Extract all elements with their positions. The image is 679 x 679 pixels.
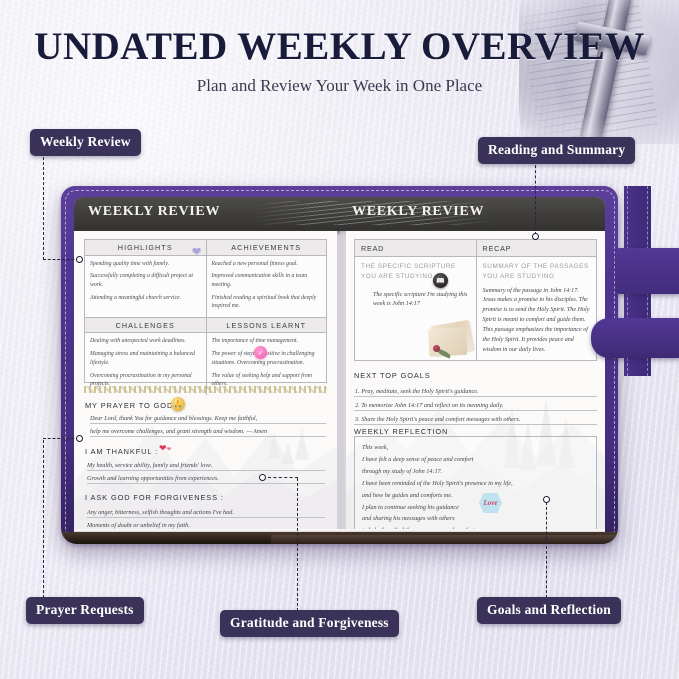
page-title: UNDATED WEEKLY OVERVIEW bbox=[0, 24, 679, 69]
callout-reading-and-summary[interactable]: Reading and Summary bbox=[478, 137, 635, 164]
prayer-heading: MY PRAYER TO GOD: bbox=[85, 401, 176, 410]
leader-gratitude-h bbox=[268, 477, 298, 478]
recap-cell[interactable]: SUMMARY OF THE PASSAGES YOU ARE STUDYING… bbox=[476, 257, 597, 361]
leader-goals-and-reflection bbox=[546, 502, 547, 598]
quadrant-cell-highlights[interactable]: Spending quality time with family. Succe… bbox=[85, 256, 206, 317]
reflection-line-3: through my study of John 14:17. bbox=[362, 466, 594, 478]
lessons-entry-1: The importance of time management. bbox=[212, 337, 322, 345]
thankful-heading: I AM THANKFUL : bbox=[85, 447, 158, 456]
achievements-entry-3: Finished reading a spiritual book that d… bbox=[212, 294, 322, 311]
goal-item-3: 3. Share the Holy Spirit's peace and com… bbox=[355, 415, 599, 424]
read-entry: The specific scripture I'm studying this… bbox=[373, 291, 470, 311]
callout-gratitude-and-forgiveness[interactable]: Gratitude and Forgiveness bbox=[220, 610, 399, 637]
read-prompt-line-1: THE SPECIFIC SCRIPTURE bbox=[361, 262, 470, 272]
reflection-line-7: and sharing his messages with others bbox=[362, 513, 594, 525]
reflection-line-2: I have felt a deep sense of peace and co… bbox=[362, 454, 594, 466]
challenges-entry-2: Managing stress and maintaining a balanc… bbox=[90, 350, 201, 367]
forgiveness-heading: I ASK GOD FOR FORGIVENESS : bbox=[85, 493, 224, 502]
highlights-entry-3: Attending a meaningful church service. bbox=[90, 294, 201, 302]
recap-heading: RECAP bbox=[476, 240, 597, 257]
leader-prayer-requests-h bbox=[43, 438, 79, 439]
journal-elastic-band bbox=[271, 535, 618, 544]
reflection-line-5: and how he guides and comforts me. bbox=[362, 490, 594, 502]
read-cell[interactable]: THE SPECIFIC SCRIPTURE YOU ARE STUDYING … bbox=[355, 257, 476, 361]
achievements-entry-1: Reached a new personal fitness goal. bbox=[212, 260, 322, 268]
leader-prayer-requests bbox=[43, 440, 44, 598]
leader-dot-goals-and-reflection bbox=[543, 496, 550, 503]
highlights-entry-1: Spending quality time with family. bbox=[90, 260, 201, 268]
quadrant-heading-lessons-learnt: LESSONS LEARNT bbox=[206, 317, 327, 334]
highlights-entry-2: Successfully completing a difficult proj… bbox=[90, 272, 201, 289]
prayer-line-2: help me overcome challenges, and grant s… bbox=[90, 427, 328, 436]
callout-weekly-review[interactable]: Weekly Review bbox=[30, 129, 141, 156]
journal-pages: WEEKLY REVIEW WEEKLY REVIEW HIGHLIGHTS A bbox=[74, 197, 605, 537]
review-quadrant-table: HIGHLIGHTS ACHIEVEMENTS Spending quality… bbox=[84, 239, 327, 383]
quadrant-cell-achievements[interactable]: Reached a new personal fitness goal. Imp… bbox=[206, 256, 327, 317]
read-heading: READ bbox=[355, 240, 476, 257]
leader-weekly-review-h bbox=[43, 259, 79, 260]
achievements-entry-2: Improved communication skills in a team … bbox=[212, 272, 322, 289]
quadrant-heading-highlights: HIGHLIGHTS bbox=[85, 240, 206, 256]
leader-dot-prayer-requests bbox=[76, 435, 83, 442]
weekly-reflection-heading: WEEKLY REFLECTION bbox=[354, 427, 448, 436]
goal-item-1: 1. Pray, meditate, seek the Holy Spirit'… bbox=[355, 387, 599, 396]
pink-check-icon: ✓ bbox=[254, 346, 267, 359]
leader-reading-and-summary bbox=[535, 160, 536, 235]
leader-dot-weekly-review bbox=[76, 256, 83, 263]
reflection-line-4: I have been reminded of the Holy Spirit'… bbox=[362, 478, 594, 490]
praying-hands-icon: 🙏 bbox=[171, 397, 185, 411]
recap-entry: Summary of the passage in John 14:17. Je… bbox=[483, 287, 591, 356]
goal-item-2: 2. To memorize John 14:17 and reflect on… bbox=[355, 401, 599, 410]
open-book-icon: 📖 bbox=[433, 273, 448, 288]
red-hearts-icon: ❤❤ bbox=[159, 443, 172, 454]
quadrant-heading-achievements: ACHIEVEMENTS bbox=[206, 240, 327, 256]
next-top-goals-heading: NEXT TOP GOALS bbox=[354, 371, 431, 380]
recap-prompt-line-2: YOU ARE STUDYING bbox=[483, 272, 591, 282]
rose-icon bbox=[433, 345, 440, 352]
leader-gratitude bbox=[297, 478, 298, 611]
page-subtitle: Plan and Review Your Week in One Place bbox=[0, 76, 679, 96]
read-recap-table: READ RECAP THE SPECIFIC SCRIPTURE YOU AR… bbox=[354, 239, 597, 361]
right-page: READ RECAP THE SPECIFIC SCRIPTURE YOU AR… bbox=[346, 231, 605, 537]
page-gutter bbox=[337, 231, 346, 537]
bookmark-tab-upper[interactable] bbox=[616, 248, 679, 294]
reflection-line-1: This week, bbox=[362, 442, 594, 454]
prayer-line-1: Dear Lord, thank You for guidance and bl… bbox=[90, 414, 328, 423]
forgiveness-line-1: Any anger, bitterness, selfish thoughts … bbox=[87, 508, 325, 517]
love-badge-sticker: Love bbox=[479, 493, 502, 513]
quadrant-heading-challenges: CHALLENGES bbox=[85, 317, 206, 334]
lilac-heart-icon: ❤ bbox=[192, 245, 201, 258]
challenges-entry-1: Dealing with unexpected work deadlines. bbox=[90, 337, 201, 345]
leader-dot-reading-and-summary bbox=[532, 233, 539, 240]
right-page-banner-title: WEEKLY REVIEW bbox=[352, 204, 484, 220]
recap-prompt-line-1: SUMMARY OF THE PASSAGES bbox=[483, 262, 591, 272]
bible-and-cross-photo bbox=[519, 0, 679, 144]
callout-goals-and-reflection[interactable]: Goals and Reflection bbox=[477, 597, 621, 624]
reflection-line-6: I plan to continue seeking his guidance bbox=[362, 502, 594, 514]
thankful-line-2: Growth and learning opportunities from e… bbox=[87, 474, 325, 483]
poster-canvas: UNDATED WEEKLY OVERVIEW Plan and Review … bbox=[0, 0, 679, 679]
decorative-divider bbox=[84, 386, 327, 393]
leader-dot-gratitude bbox=[259, 474, 266, 481]
callout-prayer-requests[interactable]: Prayer Requests bbox=[26, 597, 144, 624]
read-prompt-line-2: YOU ARE STUDYING bbox=[361, 272, 470, 282]
thankful-line-1: My health, service ability, family and f… bbox=[87, 461, 325, 470]
leader-weekly-review bbox=[43, 152, 44, 260]
bookmark-tab-lower[interactable] bbox=[591, 318, 679, 358]
weekly-reflection-text: This week, I have felt a deep sense of p… bbox=[362, 442, 594, 537]
left-page-banner-title: WEEKLY REVIEW bbox=[88, 204, 220, 220]
